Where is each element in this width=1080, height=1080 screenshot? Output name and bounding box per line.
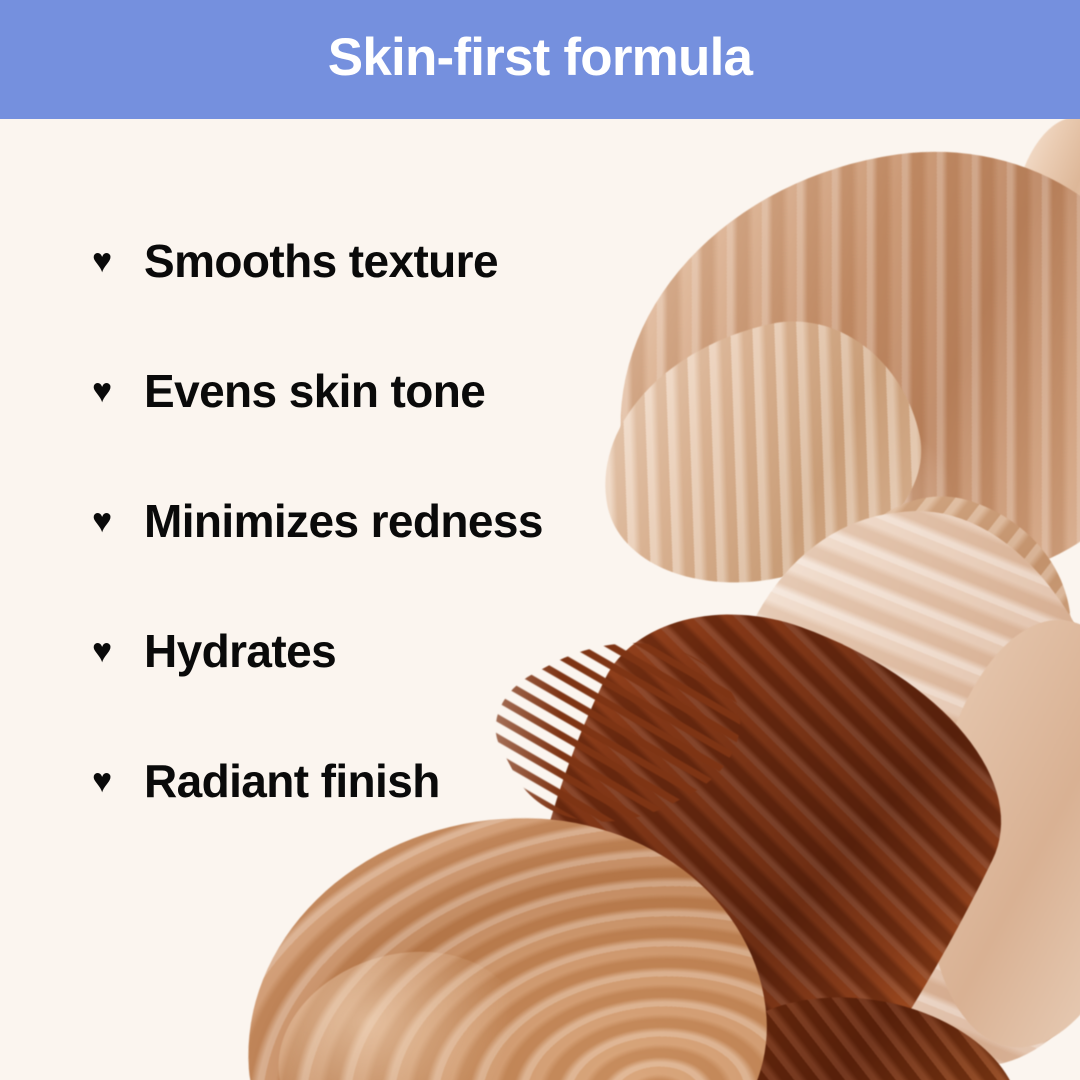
benefit-item-smooths-texture: ♥ Smooths texture xyxy=(92,196,732,326)
heart-icon: ♥ xyxy=(92,634,144,668)
benefit-label: Minimizes redness xyxy=(144,498,543,544)
heart-icon: ♥ xyxy=(92,244,144,278)
benefit-item-minimizes-redness: ♥ Minimizes redness xyxy=(92,456,732,586)
benefit-label: Hydrates xyxy=(144,628,336,674)
banner-title: Skin-first formula xyxy=(328,31,752,84)
heart-icon: ♥ xyxy=(92,504,144,538)
benefit-label: Radiant finish xyxy=(144,758,440,804)
benefit-item-radiant-finish: ♥ Radiant finish xyxy=(92,716,732,846)
benefit-label: Smooths texture xyxy=(144,238,498,284)
benefit-label: Evens skin tone xyxy=(144,368,485,414)
benefits-list: ♥ Smooths texture ♥ Evens skin tone ♥ Mi… xyxy=(92,196,732,846)
benefit-item-hydrates: ♥ Hydrates xyxy=(92,586,732,716)
heart-icon: ♥ xyxy=(92,374,144,408)
promo-poster: Skin-first formula ♥ Smooths texture ♥ E… xyxy=(0,0,1080,1080)
benefit-item-evens-skin-tone: ♥ Evens skin tone xyxy=(92,326,732,456)
heart-icon: ♥ xyxy=(92,764,144,798)
header-banner: Skin-first formula xyxy=(0,0,1080,119)
